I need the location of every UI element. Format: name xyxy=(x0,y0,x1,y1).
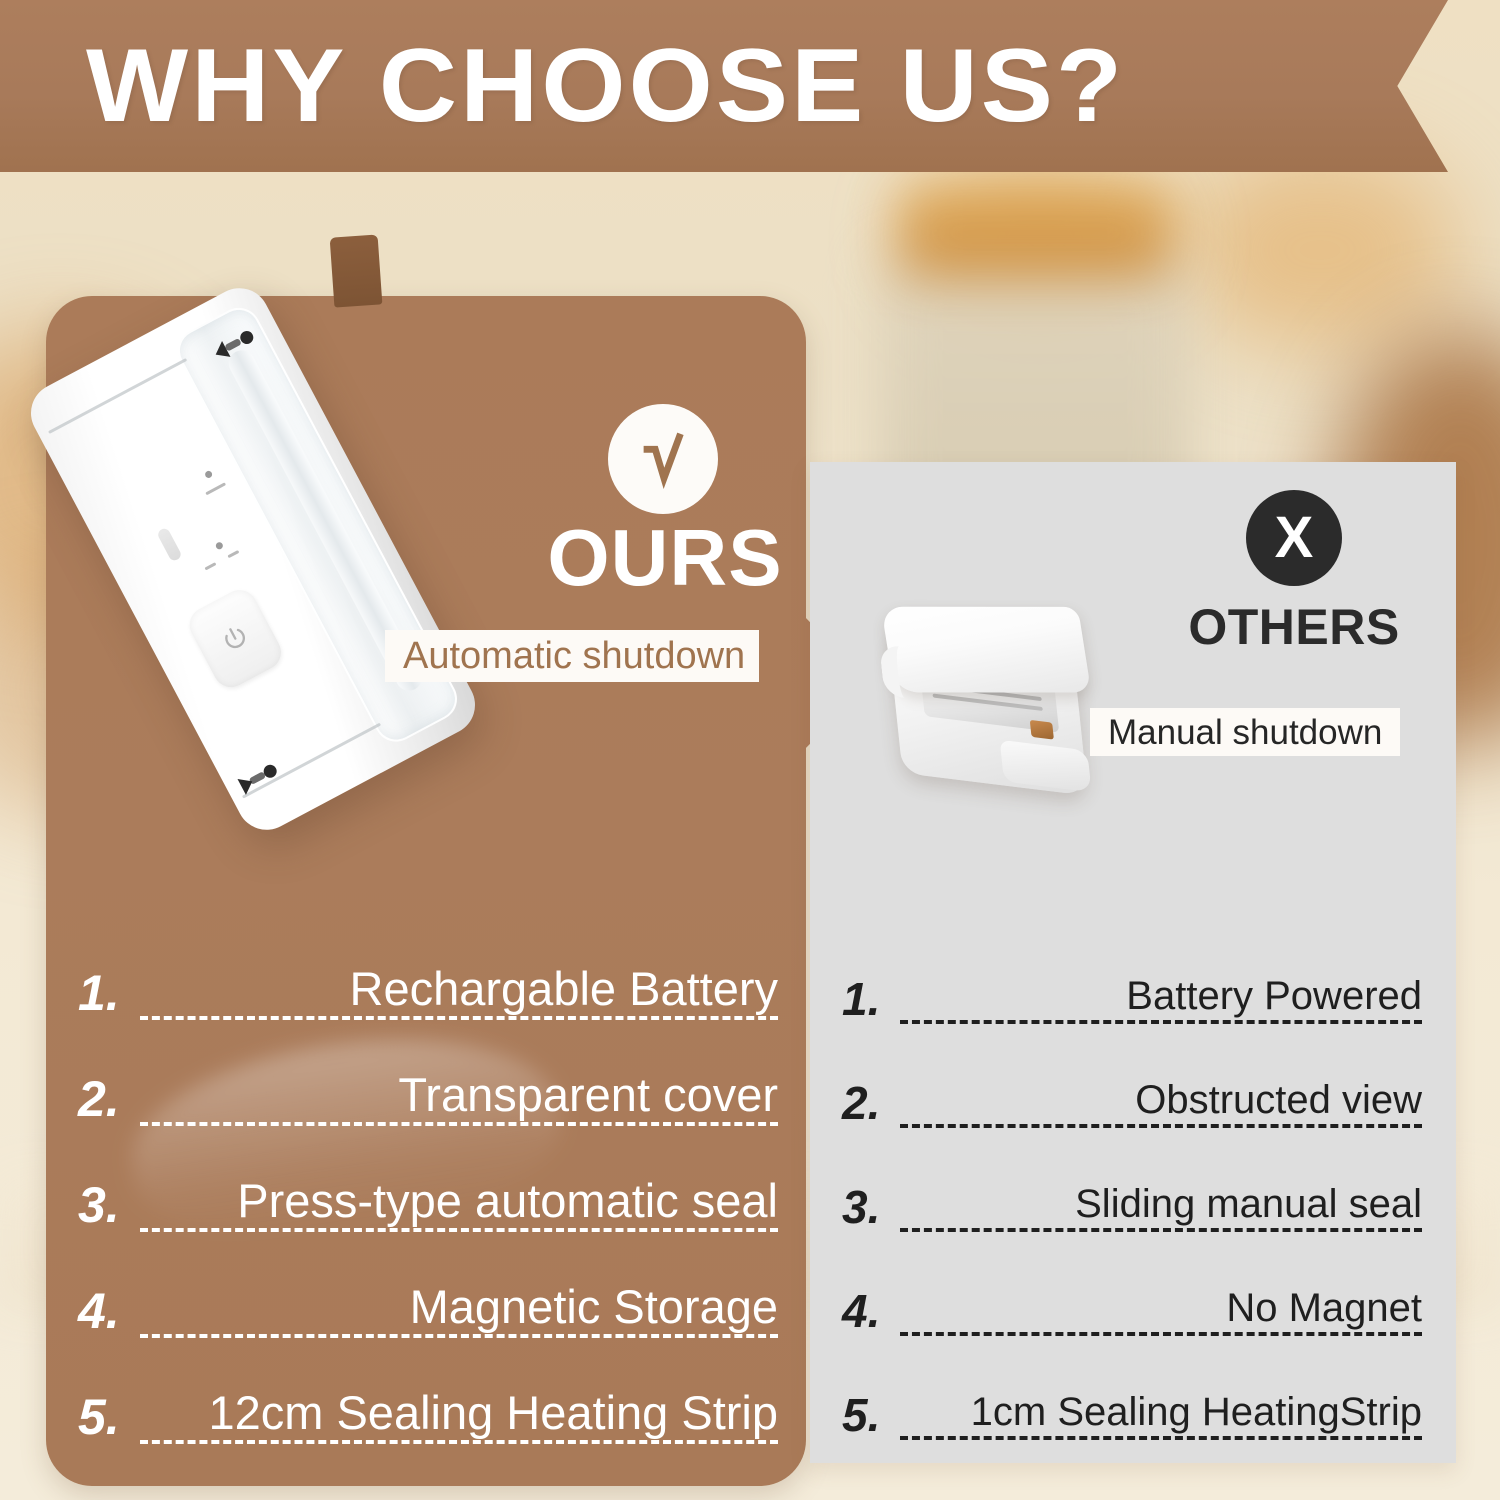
list-item-line: Transparent cover xyxy=(140,1122,778,1126)
list-item-label: Obstructed view xyxy=(1135,1080,1422,1120)
power-icon xyxy=(216,620,254,658)
others-feature-list: 1. Battery Powered 2. Obstructed view 3.… xyxy=(842,920,1422,1440)
list-item-number: 4. xyxy=(78,1286,140,1338)
list-item-line: Rechargable Battery xyxy=(140,1016,778,1020)
list-item-number: 2. xyxy=(842,1080,900,1128)
list-item: 3. Sliding manual seal xyxy=(842,1128,1422,1232)
list-item: 2. Obstructed view xyxy=(842,1024,1422,1128)
others-label: OTHERS xyxy=(1148,602,1440,652)
others-callout-chip: Manual shutdown xyxy=(1090,708,1400,756)
list-item-label: No Magnet xyxy=(1226,1288,1422,1328)
vacuum-sealer-device xyxy=(20,278,485,841)
list-item: 2. Transparent cover xyxy=(78,1022,778,1126)
dashed-rule xyxy=(140,1228,778,1232)
list-item: 5. 1cm Sealing HeatingStrip xyxy=(842,1336,1422,1440)
list-item-line: 1cm Sealing HeatingStrip xyxy=(900,1436,1422,1440)
heating-element xyxy=(1030,720,1054,740)
dashed-rule xyxy=(140,1122,778,1126)
list-item-number: 5. xyxy=(842,1392,900,1440)
dashed-rule xyxy=(140,1440,778,1444)
background-blur-blob xyxy=(1180,150,1460,350)
checkmark-glyph xyxy=(632,428,694,490)
list-item: 1. Rechargable Battery xyxy=(78,916,778,1020)
list-item-number: 3. xyxy=(842,1184,900,1232)
header-banner: WHY CHOOSE US? xyxy=(0,0,1448,172)
list-item: 4. Magnetic Storage xyxy=(78,1234,778,1338)
list-item-line: Magnetic Storage xyxy=(140,1334,778,1338)
dashed-rule xyxy=(140,1016,778,1020)
mini-sealer-hook xyxy=(879,645,941,701)
list-item-number: 2. xyxy=(78,1074,140,1126)
list-item: 1. Battery Powered xyxy=(842,920,1422,1024)
list-item-label: 12cm Sealing Heating Strip xyxy=(208,1389,778,1436)
list-item-line: 12cm Sealing Heating Strip xyxy=(140,1440,778,1444)
ours-callout-chip: Automatic shutdown xyxy=(385,630,759,682)
list-item-label: Press-type automatic seal xyxy=(237,1177,778,1224)
background-jar-lid xyxy=(900,188,1170,278)
list-item-label: Magnetic Storage xyxy=(410,1283,778,1330)
dashed-rule xyxy=(140,1334,778,1338)
ours-label: OURS xyxy=(520,518,810,598)
list-item-number: 3. xyxy=(78,1180,140,1232)
list-item: 3. Press-type automatic seal xyxy=(78,1128,778,1232)
list-item-number: 4. xyxy=(842,1288,900,1336)
list-item-label: Transparent cover xyxy=(398,1071,778,1118)
list-item-number: 1. xyxy=(78,968,140,1020)
check-circle-icon xyxy=(608,404,718,514)
list-item-label: 1cm Sealing HeatingStrip xyxy=(971,1392,1422,1432)
x-circle-icon: X xyxy=(1246,490,1342,586)
list-item-number: 1. xyxy=(842,976,900,1024)
list-item: 4. No Magnet xyxy=(842,1232,1422,1336)
list-item-label: Sliding manual seal xyxy=(1075,1184,1422,1224)
list-item-line: Press-type automatic seal xyxy=(140,1228,778,1232)
ours-feature-list: 1. Rechargable Battery 2. Transparent co… xyxy=(78,916,778,1444)
list-item-label: Battery Powered xyxy=(1126,976,1422,1016)
hanging-strap-icon xyxy=(330,234,383,307)
list-item-number: 5. xyxy=(78,1392,140,1444)
list-item-label: Rechargable Battery xyxy=(350,965,778,1012)
page-title: WHY CHOOSE US? xyxy=(86,34,1125,138)
infographic-canvas: WHY CHOOSE US? xyxy=(0,0,1500,1500)
list-item: 5. 12cm Sealing Heating Strip xyxy=(78,1340,778,1444)
dashed-rule xyxy=(900,1436,1422,1440)
others-product-image xyxy=(870,589,1121,822)
